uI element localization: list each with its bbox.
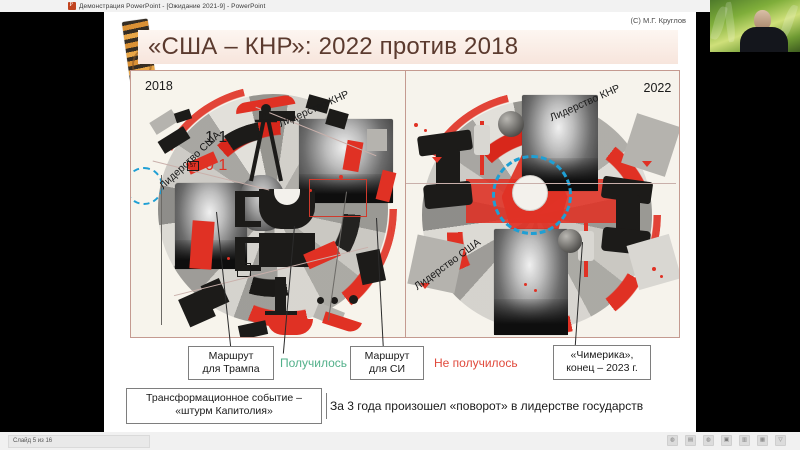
- window-title: Демонстрация PowerPoint - [Ожидание 2021…: [79, 3, 265, 10]
- powerpoint-presentation-screen: Демонстрация PowerPoint - [Ожидание 2021…: [0, 0, 800, 450]
- status-bar: Слайд 5 из 16 ◍ ▤ ◍ ▣ ▥ ▦ ▽: [0, 432, 800, 450]
- slide-counter-box: Слайд 5 из 16: [8, 435, 150, 448]
- conclusion-divider: [326, 393, 327, 419]
- callout-transformational-event[interactable]: Трансформационное событие – «штурм Капит…: [126, 388, 322, 424]
- callout-xi-route[interactable]: Маршрут для СИ: [350, 346, 424, 380]
- window-titlebar: Демонстрация PowerPoint - [Ожидание 2021…: [0, 0, 800, 12]
- conclusion-text: За 3 года произошел «поворот» в лидерств…: [326, 393, 682, 419]
- presenter-body: [740, 27, 788, 52]
- fullscreen-icon[interactable]: ▽: [775, 435, 786, 446]
- collage-frame: 2018 Лидерство США Лидерство КНР 1 1 0 1…: [130, 70, 680, 338]
- slide-counter: Слайд 5 из 16: [13, 436, 52, 447]
- callout-trump-route-line1: Маршрут: [195, 350, 267, 363]
- target-center: [512, 175, 548, 211]
- callout-xi-route-line1: Маршрут: [357, 350, 417, 363]
- panel-2022-year: 2022: [644, 81, 672, 95]
- red-box-outline: [309, 179, 367, 217]
- callout-chimerica-line1: «Чимерика»,: [560, 349, 644, 362]
- portrait-biden: [494, 229, 568, 335]
- comments-icon[interactable]: ▤: [685, 435, 696, 446]
- status-succeeded: Получилось: [280, 356, 347, 370]
- slideshow-icon[interactable]: ▦: [757, 435, 768, 446]
- callout-xi-route-line2: для СИ: [357, 363, 417, 376]
- normal-view-icon[interactable]: ◍: [703, 435, 714, 446]
- presenter-webcam[interactable]: [710, 0, 800, 52]
- callout-chimerica-line2: конец – 2023 г.: [560, 362, 644, 375]
- binary-bottom: 0 1: [205, 157, 227, 175]
- leaf-decor-icon-2: [723, 2, 736, 43]
- page-title: «США – КНР»: 2022 против 2018: [148, 31, 688, 63]
- callout-trump-route[interactable]: Маршрут для Трампа: [188, 346, 274, 380]
- callout-trump-route-line2: для Трампа: [195, 363, 267, 376]
- sorter-view-icon[interactable]: ▣: [721, 435, 732, 446]
- powerpoint-icon: [68, 2, 76, 10]
- compass-icon: [243, 101, 289, 187]
- notes-icon[interactable]: ◍: [667, 435, 678, 446]
- sphere-shape: [498, 111, 524, 137]
- panel-2018-year: 2018: [145, 79, 173, 93]
- panel-2022: 2022 Лидерство КНР Лидерство США: [406, 71, 680, 337]
- slide-canvas[interactable]: (С) М.Г. Круглов «США – КНР»: 2022 проти…: [104, 12, 696, 432]
- small-square-glyph: 57: [187, 161, 199, 171]
- callout-transform-line1: Трансформационное событие –: [133, 392, 315, 405]
- reading-view-icon[interactable]: ▥: [739, 435, 750, 446]
- copyright-text: (С) М.Г. Круглов: [630, 16, 686, 25]
- binary-top: 1 1: [205, 129, 227, 147]
- panel-2018: 2018 Лидерство США Лидерство КНР 1 1 0 1…: [131, 71, 406, 337]
- callout-transform-line2: «штурм Капитолия»: [133, 405, 315, 418]
- view-controls[interactable]: ◍ ▤ ◍ ▣ ▥ ▦ ▽: [667, 435, 786, 446]
- callout-chimerica[interactable]: «Чимерика», конец – 2023 г.: [553, 345, 651, 380]
- status-failed: Не получилось: [434, 356, 518, 370]
- sphere-shape-2: [558, 229, 582, 253]
